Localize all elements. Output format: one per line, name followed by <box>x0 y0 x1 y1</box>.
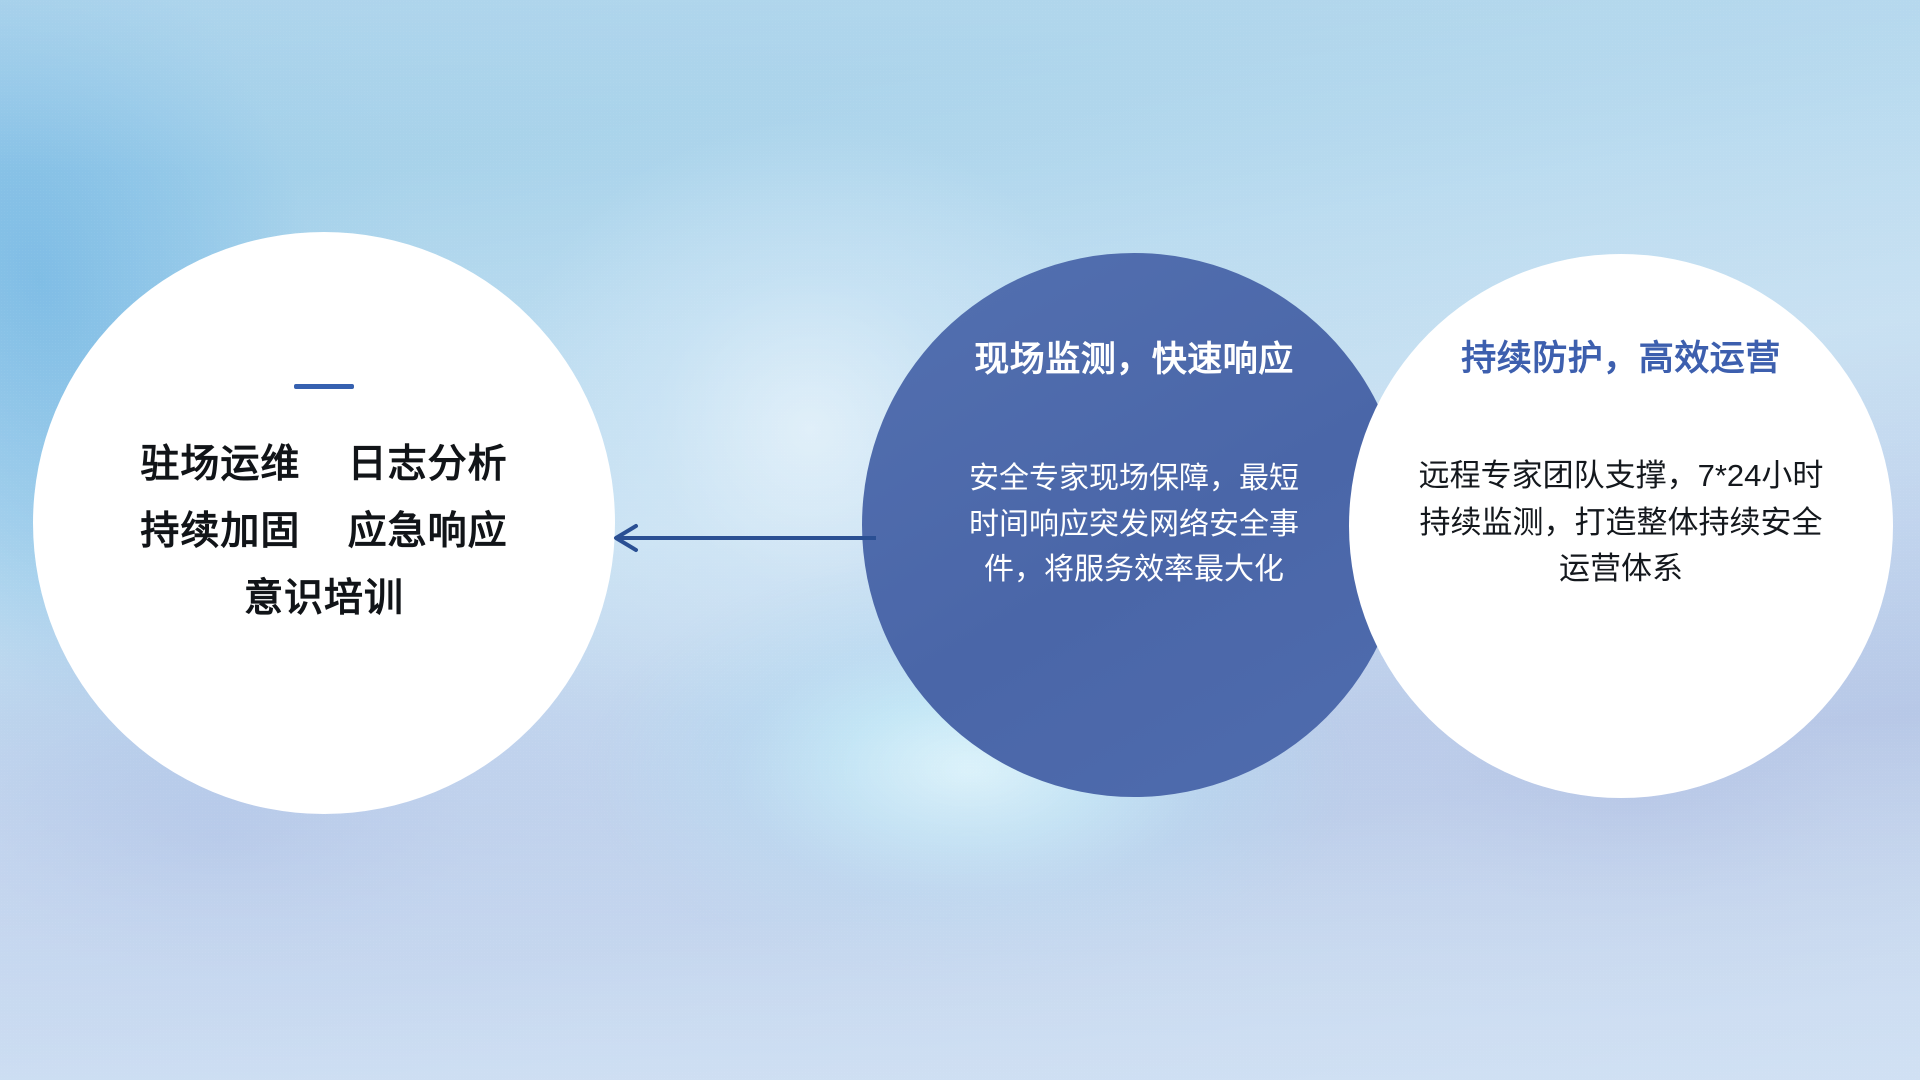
middle-card: 现场监测，快速响应 安全专家现场保障，最短时间响应突发网络安全事件，将服务效率最… <box>862 253 1406 797</box>
left-card: 驻场运维 日志分析 持续加固 应急响应 意识培训 <box>33 232 615 814</box>
middle-card-body: 安全专家现场保障，最短时间响应突发网络安全事件，将服务效率最大化 <box>969 456 1299 593</box>
right-card-body: 远程专家团队支撑，7*24小时持续监测，打造整体持续安全运营体系 <box>1406 453 1836 593</box>
left-card-keyword-list: 驻场运维 日志分析 持续加固 应急响应 意识培训 <box>33 445 615 620</box>
right-card-title: 持续防护，高效运营 <box>1461 330 1781 381</box>
list-item: 意识培训 <box>244 579 404 620</box>
connector-arrow <box>600 514 880 562</box>
right-card: 持续防护，高效运营 远程专家团队支撑，7*24小时持续监测，打造整体持续安全运营… <box>1349 254 1893 798</box>
list-item: 驻场运维 日志分析 <box>140 445 507 486</box>
list-item: 持续加固 应急响应 <box>140 512 507 553</box>
horizontal-rule-icon <box>294 384 354 389</box>
arrow-left-icon <box>600 514 880 562</box>
middle-card-title: 现场监测，快速响应 <box>974 331 1294 382</box>
